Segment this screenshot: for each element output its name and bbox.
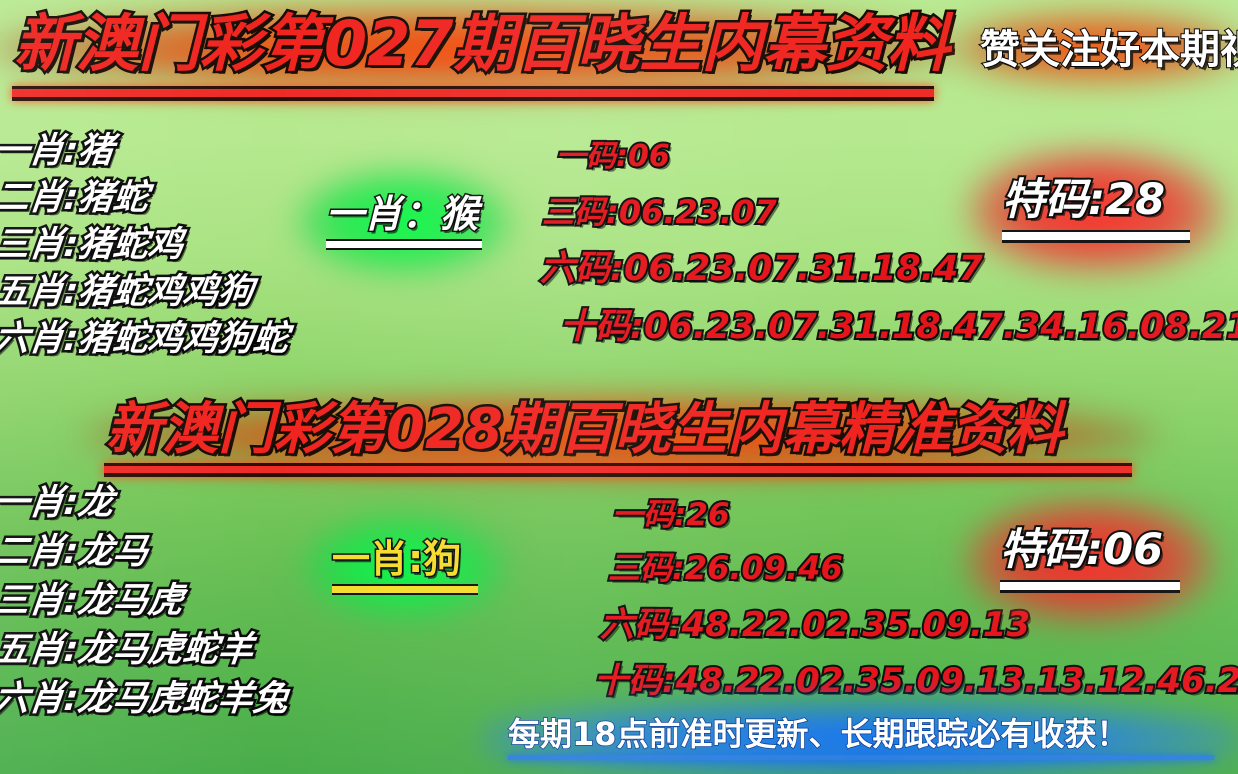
- zodiac-line: 三肖:猪蛇鸡: [0, 228, 290, 263]
- zodiac-line: 一肖:龙: [0, 486, 290, 521]
- special-label: 特码:: [1002, 175, 1105, 225]
- code-row-028-2: 三码:26.09.46: [608, 552, 843, 584]
- code-row-value: 48.22.02.35.09.13: [682, 605, 1030, 645]
- zodiac-line: 三肖:龙马虎: [0, 584, 290, 619]
- code-row-value: 06.23.07.31.18.47: [624, 249, 983, 289]
- code-row-027-4: 十码:06.23.07.31.18.47.34.16.08.21: [560, 310, 1238, 345]
- special-number-028: 特码:06: [1000, 529, 1180, 593]
- badge-underline: [332, 584, 478, 595]
- badge-underline: [326, 239, 482, 250]
- code-row-label: 三码:: [542, 193, 619, 231]
- zodiac-line: 五肖:龙马虎蛇羊: [0, 633, 290, 668]
- zodiac-line: 二肖:龙马: [0, 535, 290, 570]
- zodiac-line: 一肖:猪: [0, 134, 290, 169]
- headline-rule-028: [104, 463, 1132, 477]
- zodiac-line: 六肖:猪蛇鸡鸡狗蛇: [0, 322, 290, 357]
- special-underline: [1002, 230, 1190, 243]
- code-row-value: 06.23.07: [619, 193, 777, 231]
- code-row-027-3: 六码:06.23.07.31.18.47: [540, 252, 983, 287]
- section-title-027: 新澳门彩第027期百晓生内幕资料: [14, 13, 949, 75]
- one-zodiac-badge-027: 一肖：猴: [326, 195, 482, 250]
- zodiac-line: 六肖:龙马虎蛇羊兔: [0, 682, 290, 717]
- special-value: 06: [1103, 525, 1163, 575]
- one-zodiac-badge-028: 一肖:狗: [332, 540, 478, 595]
- badge-label: 一肖:狗: [332, 540, 478, 578]
- footer-text: 每期18点前准时更新、长期跟踪必有收获！: [508, 718, 1214, 750]
- footer-banner: 每期18点前准时更新、长期跟踪必有收获！: [508, 718, 1214, 760]
- code-row-028-4: 十码:48.22.02.35.09.13.13.12.46.26.03: [594, 664, 1238, 698]
- poster-canvas: 新澳门彩第027期百晓生内幕资料 赞关注好本期视频 一肖:猪 二肖:猪蛇 三肖:…: [0, 0, 1238, 774]
- zodiac-list-028: 一肖:龙 二肖:龙马 三肖:龙马虎 五肖:龙马虎蛇羊 六肖:龙马虎蛇羊兔: [0, 486, 288, 717]
- code-row-value: 26.09.46: [685, 549, 843, 587]
- code-row-028-1: 一码:26: [612, 500, 730, 531]
- zodiac-line: 二肖:猪蛇: [0, 181, 290, 216]
- code-row-label: 六码:: [540, 249, 624, 289]
- special-number-text: 特码:28: [1002, 179, 1190, 222]
- special-value: 28: [1105, 175, 1165, 225]
- special-underline: [1000, 580, 1180, 593]
- special-number-027: 特码:28: [1002, 179, 1190, 243]
- zodiac-line: 五肖:猪蛇鸡鸡狗: [0, 275, 290, 310]
- code-row-value: 26: [686, 497, 729, 533]
- code-row-label: 三码:: [608, 549, 685, 587]
- zodiac-list-027: 一肖:猪 二肖:猪蛇 三肖:猪蛇鸡 五肖:猪蛇鸡鸡狗 六肖:猪蛇鸡鸡狗蛇: [0, 134, 288, 357]
- section-title-028: 新澳门彩第028期百晓生内幕精准资料: [106, 402, 1063, 458]
- code-row-label: 一码:: [612, 497, 686, 533]
- code-row-label: 十码:: [560, 307, 644, 347]
- code-row-value: 06.23.07.31.18.47.34.16.08.21: [644, 307, 1238, 347]
- footer-underline: [508, 755, 1214, 760]
- code-row-027-1: 一码:06: [556, 142, 670, 172]
- special-number-text: 特码:06: [1000, 529, 1180, 572]
- code-row-value: 48.22.02.35.09.13.13.12.46.26.03: [676, 661, 1238, 701]
- promo-note: 赞关注好本期视频: [980, 30, 1238, 70]
- code-row-label: 十码:: [594, 661, 676, 701]
- code-row-value: 06: [628, 139, 670, 174]
- code-row-027-2: 三码:06.23.07: [542, 196, 777, 228]
- code-row-028-3: 六码:48.22.02.35.09.13: [600, 608, 1030, 642]
- badge-label: 一肖：猴: [326, 195, 482, 233]
- special-label: 特码:: [1000, 525, 1103, 575]
- code-row-label: 六码:: [600, 605, 682, 645]
- headline-rule-027: [12, 86, 934, 101]
- code-row-label: 一码:: [556, 139, 628, 174]
